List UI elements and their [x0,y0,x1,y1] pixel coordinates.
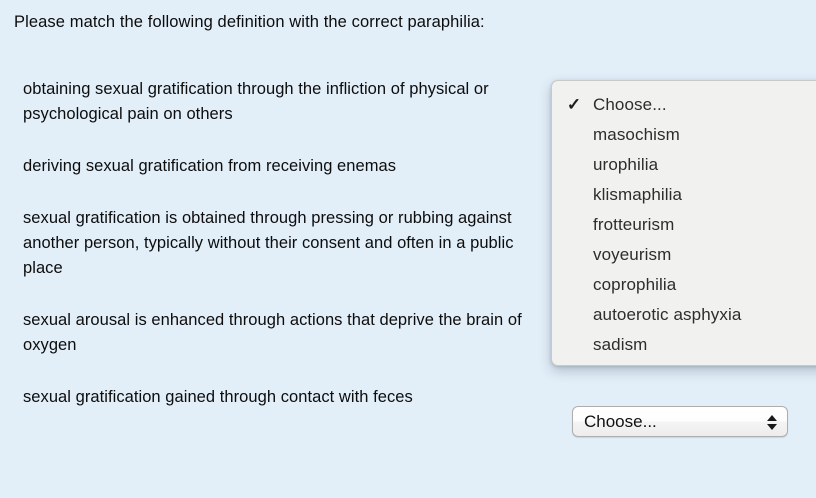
menu-item-label: voyeurism [593,245,671,264]
menu-item-masochism[interactable]: masochism [552,120,816,150]
select-selected-value: Choose... [584,407,657,438]
chevron-up-icon [767,415,777,421]
checkmark-icon: ✓ [564,90,584,120]
menu-item-label: autoerotic asphyxia [593,305,741,324]
menu-item-klismaphilia[interactable]: klismaphilia [552,180,816,210]
menu-item-label: masochism [593,125,680,144]
menu-item-label: Choose... [593,95,667,114]
menu-item-urophilia[interactable]: urophilia [552,150,816,180]
definition-list: obtaining sexual gratification through t… [23,77,548,410]
list-item: deriving sexual gratification from recei… [23,154,548,179]
menu-item-frotteurism[interactable]: frotteurism [552,210,816,240]
list-item: sexual arousal is enhanced through actio… [23,308,548,358]
menu-item-label: frotteurism [593,215,674,234]
menu-item-label: sadism [593,335,647,354]
menu-item-voyeurism[interactable]: voyeurism [552,240,816,270]
menu-item-coprophilia[interactable]: coprophilia [552,270,816,300]
quiz-page: Please match the following definition wi… [0,0,816,498]
menu-item-sadism[interactable]: sadism [552,330,816,360]
menu-item-autoerotic-asphyxia[interactable]: autoerotic asphyxia [552,300,816,330]
chevron-updown-icon[interactable] [765,407,779,438]
list-item: obtaining sexual gratification through t… [23,77,548,127]
list-item: sexual gratification is obtained through… [23,206,548,281]
chevron-down-icon [767,424,777,430]
page-title: Please match the following definition wi… [14,13,485,32]
menu-item-label: urophilia [593,155,658,174]
menu-item-label: klismaphilia [593,185,682,204]
dropdown-popup-menu[interactable]: ✓ Choose... masochism urophilia klismaph… [551,80,816,366]
menu-item-label: coprophilia [593,275,676,294]
menu-item-choose[interactable]: ✓ Choose... [552,90,816,120]
paraphilia-select[interactable]: Choose... [572,406,788,437]
list-item: sexual gratification gained through cont… [23,385,548,410]
